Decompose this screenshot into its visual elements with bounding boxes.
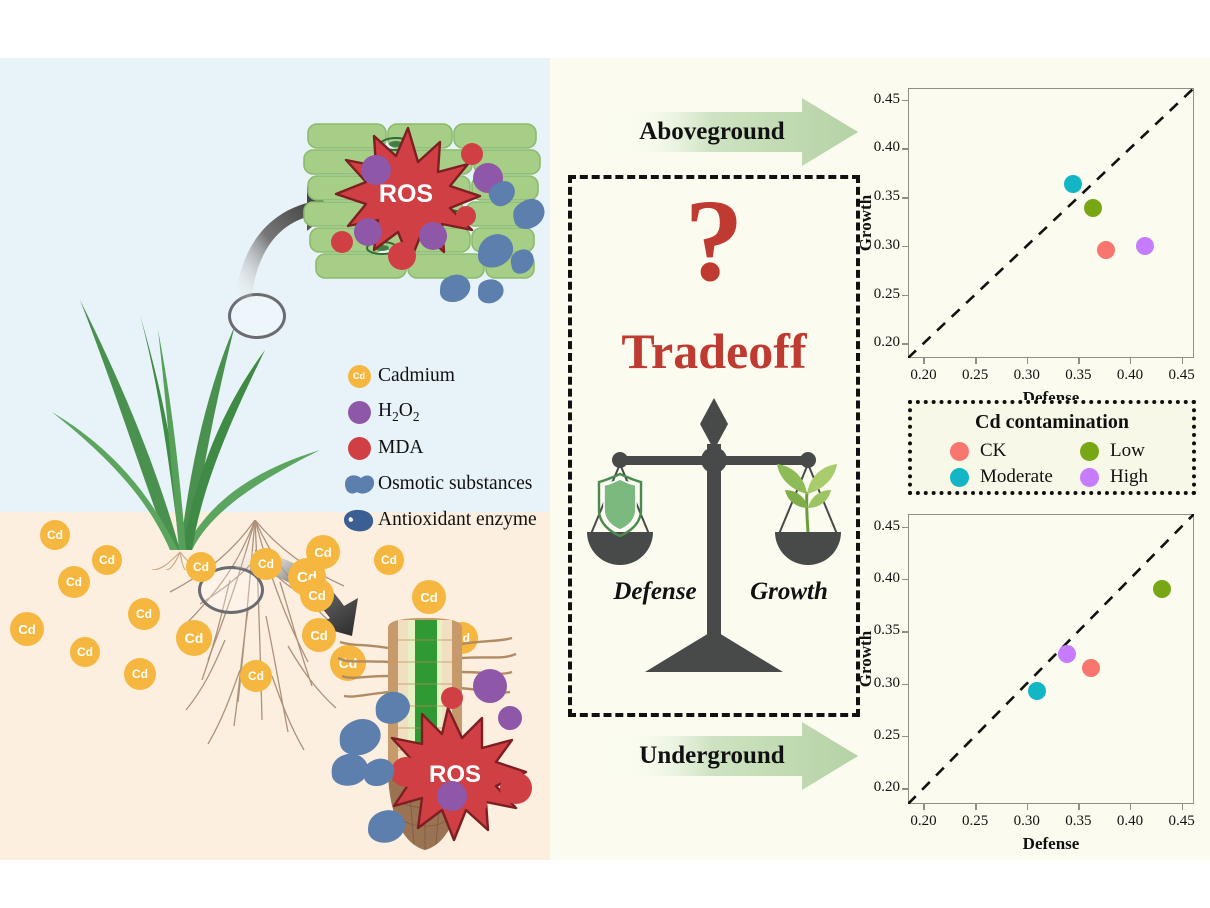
y-tick-label: 0.20: [862, 334, 900, 351]
figure-canvas: CdCdCdCdCdCdCdCdCdCdCdCdCdCdCdCdCdCdCd: [0, 0, 1210, 908]
legend-label-ck: CK: [980, 440, 1006, 462]
legend-item-moderate[interactable]: Moderate: [950, 466, 1053, 488]
y-axis-title: Growth: [856, 173, 876, 273]
y-tick-mark: [902, 295, 908, 296]
x-tick-mark: [975, 358, 976, 364]
legend-label-moderate: Moderate: [980, 466, 1053, 488]
cadmium-particle: Cd: [40, 520, 70, 550]
legend-item-high[interactable]: High: [1080, 466, 1148, 488]
y-tick-mark: [902, 631, 908, 632]
x-tick-mark: [1027, 804, 1028, 810]
x-tick-mark: [1130, 358, 1131, 364]
mda-molecule-icon: [342, 437, 376, 460]
legend-dot-high: [1080, 468, 1099, 487]
cadmium-particle: Cd: [186, 552, 216, 582]
y-tick-mark: [902, 684, 908, 685]
y-tick-label: 0.40: [862, 570, 900, 587]
cadmium-particle: Cd: [92, 545, 122, 575]
x-tick-label: 0.30: [1007, 813, 1047, 830]
legend-label-low: Low: [1110, 440, 1145, 462]
cadmium-particle: Cd: [176, 620, 212, 656]
cadmium-particle: Cd: [250, 548, 282, 580]
x-tick-label: 0.20: [903, 813, 943, 830]
aboveground-arrow-label: Aboveground: [612, 98, 858, 166]
y-tick-label: 0.45: [862, 91, 900, 108]
cadmium-particle-icon: Cd: [342, 365, 376, 388]
cadmium-particle: Cd: [58, 566, 90, 598]
cadmium-particle: Cd: [10, 612, 44, 646]
legend-label-high: High: [1110, 466, 1148, 488]
y-tick-mark: [902, 343, 908, 344]
x-tick-mark: [1130, 804, 1131, 810]
cd-contamination-legend: Cd contamination CK Low Moderate High: [908, 400, 1196, 495]
symbol-key-list: CdCadmiumH2O2MDAOsmotic substancesAntiox…: [342, 358, 557, 538]
x-tick-label: 0.40: [1110, 813, 1150, 830]
legend-title: Cd contamination: [912, 411, 1192, 434]
growth-pan-label: Growth: [730, 578, 848, 606]
osmotic-substance-icon: [342, 472, 376, 496]
key-list-item: Antioxidant enzyme: [342, 502, 557, 538]
y-tick-mark: [902, 788, 908, 789]
one-to-one-reference-line: [908, 514, 1194, 804]
x-tick-mark: [1182, 358, 1183, 364]
key-list-label: H2O2: [378, 400, 419, 425]
ros-label-leaf: ROS: [379, 180, 433, 208]
scatter-point[interactable]: [1153, 580, 1171, 598]
key-list-label: Antioxidant enzyme: [378, 509, 537, 531]
y-tick-label: 0.25: [862, 286, 900, 303]
key-list-item: CdCadmium: [342, 358, 557, 394]
one-to-one-reference-line: [908, 88, 1194, 358]
y-tick-mark: [902, 197, 908, 198]
legend-dot-low: [1080, 442, 1099, 461]
y-tick-mark: [902, 246, 908, 247]
legend-item-ck[interactable]: CK: [950, 440, 1006, 462]
y-tick-mark: [902, 100, 908, 101]
defense-pan-label: Defense: [596, 578, 714, 606]
y-axis-title: Growth: [856, 609, 876, 709]
legend-dot-moderate: [950, 468, 969, 487]
x-tick-label: 0.25: [955, 367, 995, 384]
y-tick-mark: [902, 579, 908, 580]
x-tick-mark: [1027, 358, 1028, 364]
legend-item-low[interactable]: Low: [1080, 440, 1145, 462]
cadmium-particle: Cd: [128, 598, 160, 630]
x-tick-label: 0.45: [1162, 367, 1202, 384]
antioxidant-enzyme-icon: [342, 508, 376, 532]
x-tick-mark: [1078, 804, 1079, 810]
cadmium-particle: Cd: [300, 578, 334, 612]
y-tick-mark: [902, 527, 908, 528]
aboveground-scatter-chart: 0.200.250.300.350.400.450.200.250.300.35…: [862, 78, 1202, 388]
root-tip-illustration: ROS: [330, 600, 570, 865]
x-tick-mark: [1182, 804, 1183, 810]
cadmium-particle: Cd: [374, 545, 404, 575]
y-tick-label: 0.40: [862, 139, 900, 156]
key-list-label: Cadmium: [378, 365, 455, 387]
x-tick-label: 0.40: [1110, 367, 1150, 384]
key-list-label: Osmotic substances: [378, 473, 532, 495]
cadmium-particle: Cd: [240, 660, 272, 692]
y-tick-label: 0.25: [862, 727, 900, 744]
balance-scale-icon: [585, 372, 843, 682]
x-tick-label: 0.30: [1007, 367, 1047, 384]
x-tick-mark: [1078, 358, 1079, 364]
underground-arrow-label: Underground: [612, 722, 858, 790]
y-tick-label: 0.45: [862, 518, 900, 535]
x-tick-label: 0.35: [1058, 367, 1098, 384]
x-tick-label: 0.25: [955, 813, 995, 830]
legend-dot-ck: [950, 442, 969, 461]
x-tick-label: 0.35: [1058, 813, 1098, 830]
h2o2-molecule-icon: [342, 401, 376, 424]
y-tick-label: 0.20: [862, 779, 900, 796]
key-list-item: H2O2: [342, 394, 557, 430]
x-tick-mark: [975, 804, 976, 810]
x-tick-mark: [923, 358, 924, 364]
x-tick-mark: [923, 804, 924, 810]
y-tick-mark: [902, 148, 908, 149]
key-list-item: MDA: [342, 430, 557, 466]
cadmium-particle: Cd: [306, 535, 340, 569]
leaf-cell-illustration: ROS: [300, 120, 550, 305]
x-tick-label: 0.20: [903, 367, 943, 384]
cadmium-particle: Cd: [124, 658, 156, 690]
underground-scatter-chart: 0.200.250.300.350.400.450.200.250.300.35…: [862, 500, 1202, 855]
x-tick-label: 0.45: [1162, 813, 1202, 830]
x-axis-title: Defense: [908, 834, 1194, 854]
key-list-label: MDA: [378, 437, 424, 459]
cadmium-particle: Cd: [70, 637, 100, 667]
y-tick-mark: [902, 736, 908, 737]
scatter-point[interactable]: [1058, 645, 1076, 663]
key-list-item: Osmotic substances: [342, 466, 557, 502]
question-mark-icon: ?: [568, 182, 860, 300]
